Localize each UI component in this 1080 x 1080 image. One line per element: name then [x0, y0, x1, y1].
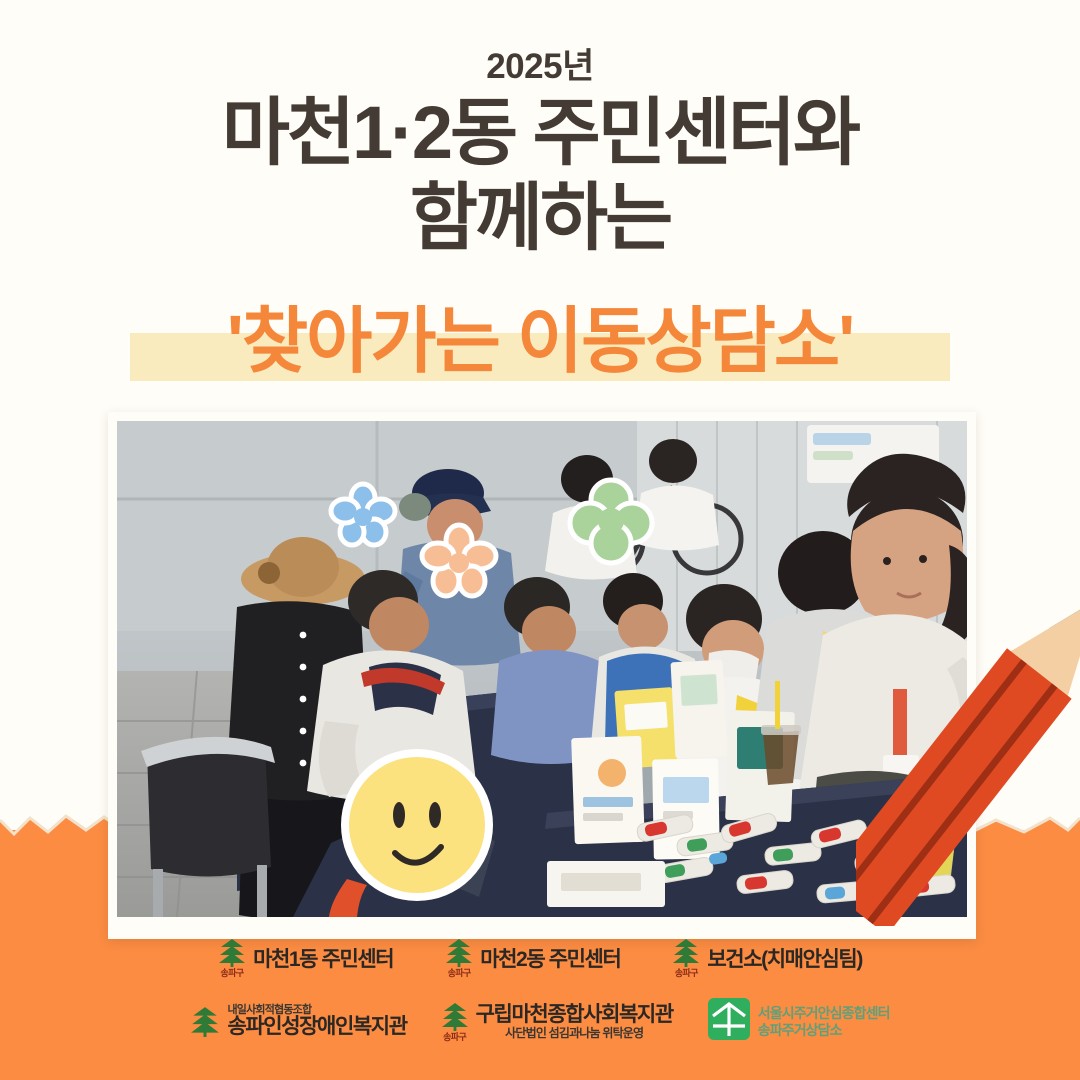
logo-text-group: 내일사회적협동조합 송파인성장애인복지관 [227, 1005, 406, 1039]
logo-label: 보건소(치매안심팀) [707, 943, 862, 973]
event-photo [117, 421, 967, 917]
logo-seoul-housing-center: 서울시주거안심종합센터 송파주거상담소 [707, 996, 890, 1047]
logo-macheon1dong: 송파구 마천1동 주민센터 [218, 938, 393, 978]
logo-macheon2dong: 송파구 마천2동 주민센터 [445, 938, 620, 978]
partner-logos: 송파구 마천1동 주민센터 송파구 마천2동 주민센 [0, 930, 1080, 1080]
logo-text-group: 구립마천종합사회복지관 사단법인 섬김과나눔 위탁운영 [476, 1004, 673, 1040]
title-line-2: 함께하는 [0, 180, 1080, 255]
poster-canvas: 2025년 마천1·2동 주민센터와 함께하는 '찾아가는 이동상담소' [0, 0, 1080, 1080]
title-line-1: 마천1·2동 주민센터와 [0, 95, 1080, 170]
house-icon [707, 996, 751, 1047]
songpa-tree-icon: 송파구 [218, 938, 246, 978]
logo-label: 송파인성장애인복지관 [227, 1016, 406, 1038]
poster-title: 마천1·2동 주민센터와 함께하는 [0, 95, 1080, 256]
partner-logo-row-2: 내일사회적협동조합 송파인성장애인복지관 송파구 [0, 996, 1080, 1047]
songpa-tree-icon: 송파구 [445, 938, 473, 978]
logo-text-group: 서울시주거안심종합센터 송파주거상담소 [758, 1005, 890, 1038]
poster-subtitle: '찾아가는 이동상담소' [227, 305, 853, 381]
logo-label-line2: 송파주거상담소 [758, 1022, 890, 1039]
songpa-tree-icon: 송파구 [672, 938, 700, 978]
poster-year: 2025년 [0, 38, 1080, 89]
songpa-tree-icon: 송파구 [441, 1002, 469, 1042]
logo-health-center: 송파구 보건소(치매안심팀) [672, 938, 862, 978]
photo-card [108, 412, 976, 939]
logo-label: 마천1동 주민센터 [253, 943, 393, 973]
songpa-gu-label: 송파구 [448, 969, 471, 978]
logo-songpa-inseong: 내일사회적협동조합 송파인성장애인복지관 [190, 1005, 406, 1039]
songpa-gu-label: 송파구 [443, 1033, 466, 1042]
songpa-gu-label: 송파구 [221, 969, 244, 978]
tree-icon [190, 1006, 220, 1038]
logo-label: 구립마천종합사회복지관 [476, 1004, 673, 1026]
logo-label-line1: 서울시주거안심종합센터 [758, 1005, 890, 1022]
poster-subtitle-wrap: '찾아가는 이동상담소' [0, 305, 1080, 381]
logo-label: 마천2동 주민센터 [480, 943, 620, 973]
partner-logo-row-1: 송파구 마천1동 주민센터 송파구 마천2동 주민센 [0, 938, 1080, 978]
logo-guribe-macheon: 송파구 구립마천종합사회복지관 사단법인 섬김과나눔 위탁운영 [441, 1002, 673, 1042]
songpa-gu-label: 송파구 [675, 969, 698, 978]
logo-subtitle: 사단법인 섬김과나눔 위탁운영 [476, 1027, 673, 1040]
